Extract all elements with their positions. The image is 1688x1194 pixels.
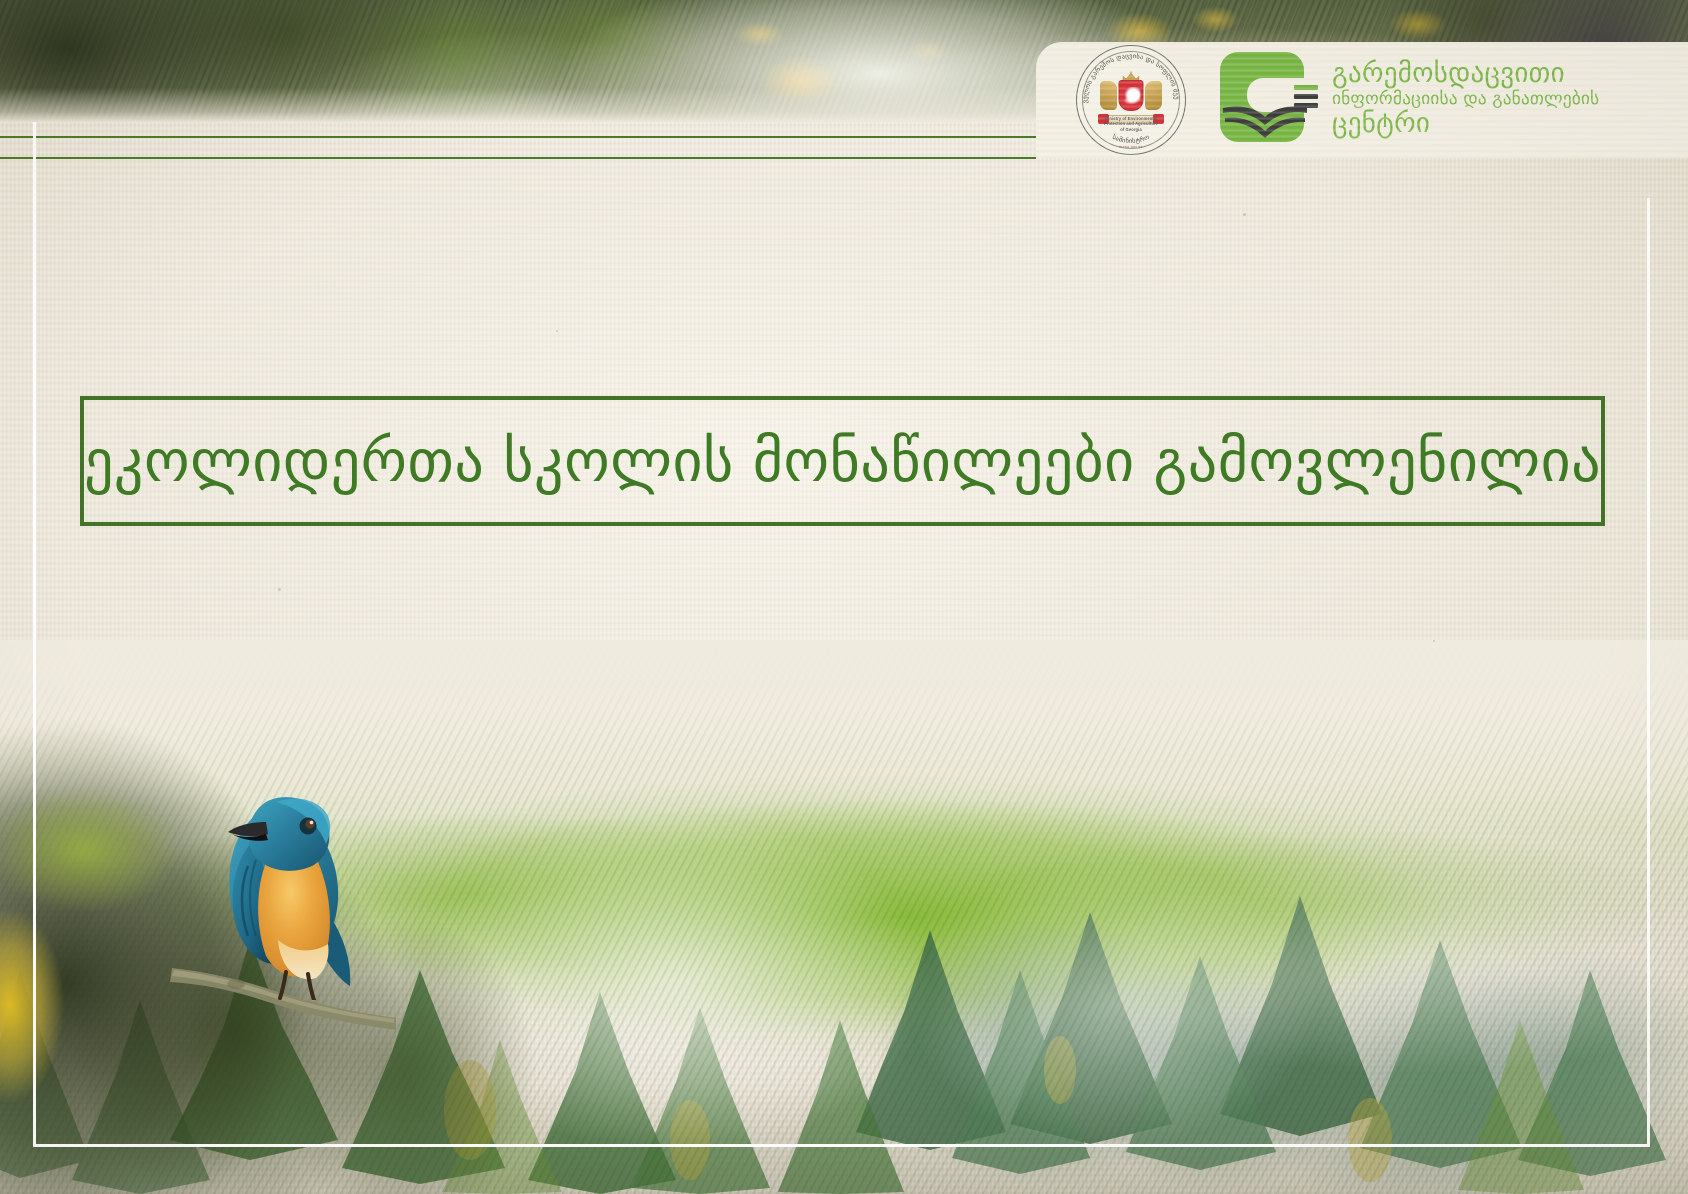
frame-line-left <box>33 122 36 1147</box>
eiec-text-line-2: ინფორმაციისა და განათლების <box>1332 89 1678 110</box>
header-rule-upper <box>0 136 1036 138</box>
logo-panel: საქართველოს გარემოს დაცვისა და სოფლის მე… <box>1036 42 1688 158</box>
georgia-coat-of-arms-icon <box>1099 72 1163 122</box>
eiec-logo-text: გარემოსდაცვითი ინფორმაციისა და განათლები… <box>1332 60 1678 138</box>
paper-speck <box>1433 640 1435 642</box>
frame-line-bottom <box>33 1144 1650 1147</box>
eiec-text-line-3: ცენტრი <box>1332 110 1678 138</box>
blue-flycatcher-bird-image <box>200 750 390 1000</box>
st-george-shield-icon <box>1119 80 1144 111</box>
poster-canvas: საქართველოს გარემოს დაცვისა და სოფლის მე… <box>0 0 1688 1194</box>
seal-english-line-3: of Georgia <box>1076 127 1186 132</box>
lion-supporter-left-icon <box>1100 81 1117 110</box>
crown-icon <box>1121 68 1141 80</box>
eiec-bars-icon <box>1294 85 1318 112</box>
svg-text:სამინისტრო: სამინისტრო <box>1111 133 1151 145</box>
eiec-logo-mark-icon <box>1220 52 1318 148</box>
seal-url-text: mepa.gov.ge <box>1076 145 1186 149</box>
page-title: ეკოლიდერთა სკოლის მონაწილეები გამოვლენილ… <box>84 430 1601 492</box>
seal-arc-bottom-text: სამინისტრო <box>1111 133 1151 145</box>
paper-speck <box>1243 213 1246 216</box>
seal-english-text: Ministry of Environmental Protection and… <box>1076 116 1186 132</box>
paper-speck <box>278 588 281 591</box>
header-rule-lower <box>0 157 1036 159</box>
eiec-bar-3 <box>1294 103 1318 108</box>
frame-line-right <box>1647 198 1650 1147</box>
eiec-bar-1 <box>1294 85 1318 90</box>
announcement-title-box: ეკოლიდერთა სკოლის მონაწილეები გამოვლენილ… <box>80 396 1605 526</box>
eiec-text-line-1: გარემოსდაცვითი <box>1332 60 1678 87</box>
eiec-bar-2 <box>1294 94 1318 99</box>
lion-supporter-right-icon <box>1145 81 1162 110</box>
paper-speck <box>556 330 558 332</box>
ministry-seal-icon: საქართველოს გარემოს დაცვისა და სოფლის მე… <box>1076 45 1186 155</box>
